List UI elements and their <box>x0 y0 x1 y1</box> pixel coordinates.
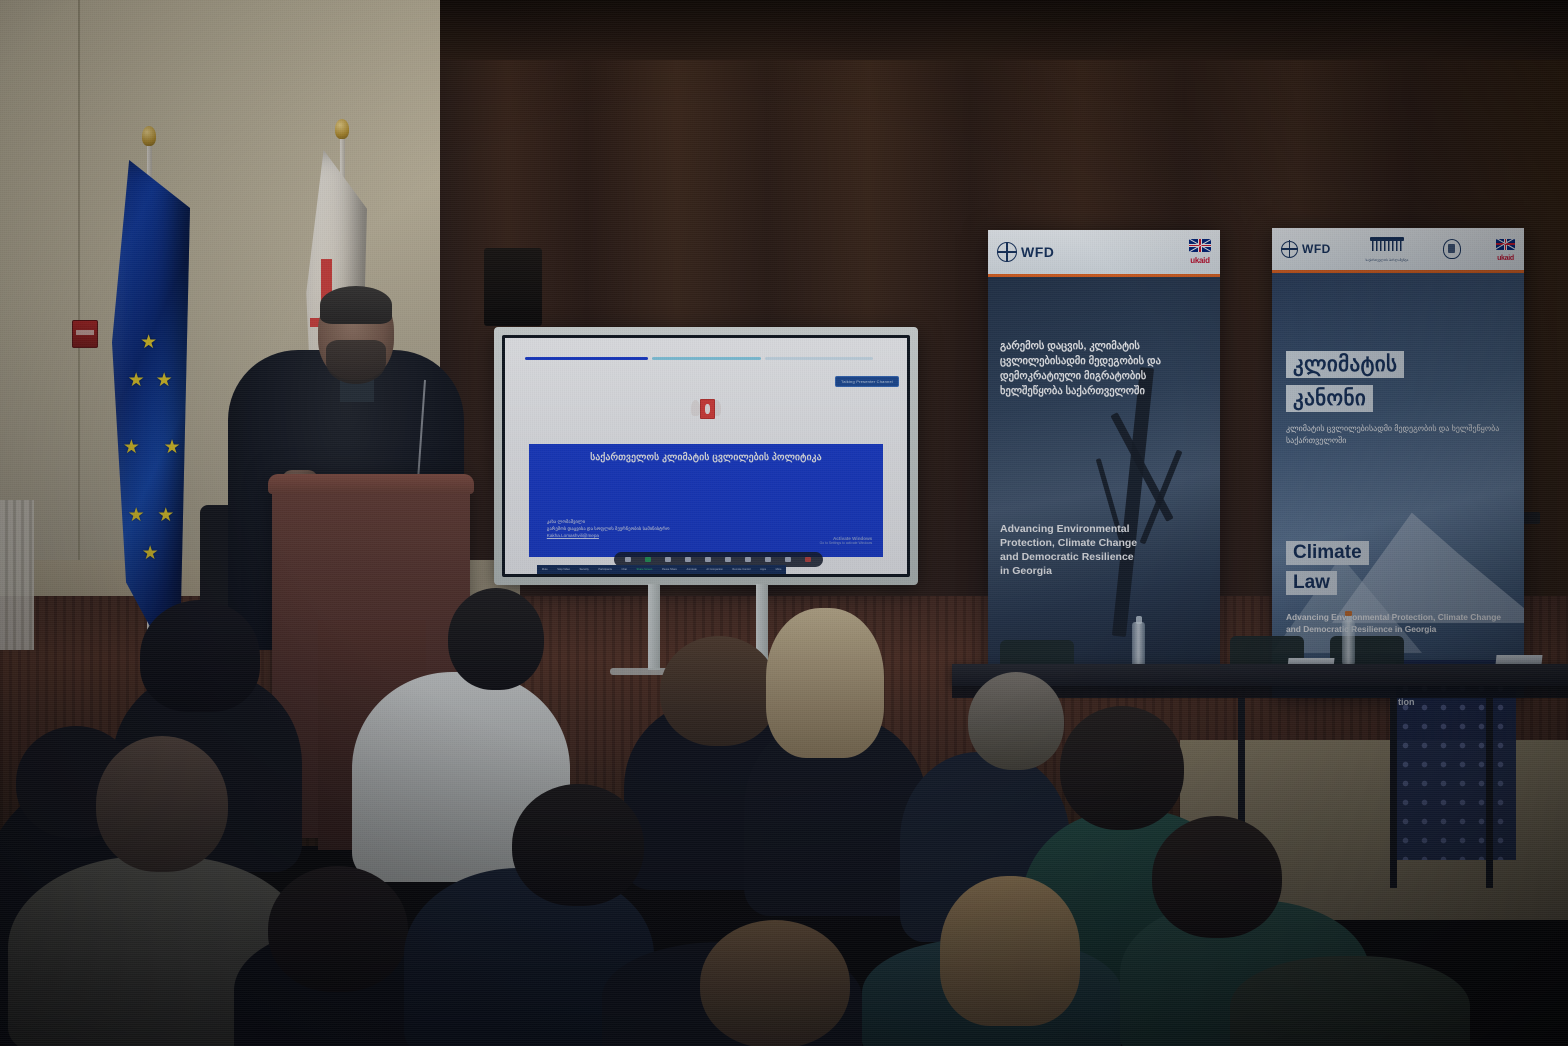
ukaid-wordmark-2: ukaid <box>1496 255 1515 262</box>
parliament-label: საქართველოს პარლამენტი <box>1366 258 1409 262</box>
banner2-title-en-line1: Climate <box>1286 541 1369 565</box>
banner-photo-dead-tree <box>988 277 1220 680</box>
toolbar-item-participants[interactable]: Participants <box>598 568 612 571</box>
banner2-subtitle-ka: კლიმატის ცვლილებისადმი მედეგობის და ხელშ… <box>1286 423 1510 446</box>
georgia-flag-finial-icon <box>335 119 349 139</box>
banner-headline-ka: გარემოს დაცვის, კლიმატის ცვლილებისადმი მ… <box>1000 339 1206 399</box>
headline-en-line-1: Advancing Environmental <box>1000 523 1206 537</box>
toolbar-item-share-screen[interactable]: Share Screen <box>637 568 653 571</box>
toolbar-item-remote-control[interactable]: Remote Control <box>732 568 750 571</box>
settings-icon[interactable] <box>765 557 771 562</box>
presenter-hair <box>320 286 392 324</box>
water-bottle[interactable] <box>1132 622 1145 668</box>
progress-segment-2 <box>652 357 761 360</box>
save-icon[interactable] <box>745 557 751 562</box>
conference-hall-photo: ★ ★ ★ ★ ★ ★ ★ ★ Talking Presenter Channe… <box>0 0 1568 1046</box>
banner2-title-ka-line1: კლიმატის <box>1286 351 1404 378</box>
radiator <box>0 500 34 650</box>
curtain-valance <box>440 0 1568 60</box>
toolbar-item-annotate[interactable]: Annotate <box>686 568 696 571</box>
banner2-logo-strip: WFD საქართველოს პარლამენტი ukaid <box>1272 228 1524 270</box>
banner-body: გარემოს დაცვის, კლიმატის ცვლილებისადმი მ… <box>988 277 1220 680</box>
banner2-title-en-line2: Law <box>1286 571 1337 595</box>
presenter-role: გარემოს დაცვისა და სოფლის მეურნეობის სამ… <box>547 525 670 532</box>
fire-alarm-icon <box>72 320 98 348</box>
toolbar-item-pause-share[interactable]: Pause Share <box>662 568 677 571</box>
close-icon[interactable] <box>785 557 791 562</box>
wfd-globe-icon <box>997 242 1017 262</box>
wall-seam <box>78 0 80 560</box>
toolbar-item-mute[interactable]: Mute <box>542 568 548 571</box>
slide-presenter-block: კახა ლომაშვილი გარემოს დაცვისა და სოფლის… <box>547 518 670 539</box>
slide-title-text: საქართველოს კლიმატის ცვლილების პოლიტიკა <box>529 452 883 463</box>
banner-logo-strip: WFD ukaid <box>988 230 1220 274</box>
progress-segment-1 <box>525 357 648 360</box>
presentation-display[interactable]: Talking Presenter Channel საქართველოს კლ… <box>494 327 918 585</box>
banner-headline-en: Advancing Environmental Protection, Clim… <box>1000 523 1206 578</box>
toolbar-item-chat[interactable]: Chat <box>621 568 626 571</box>
display-screen[interactable]: Talking Presenter Channel საქართველოს კლ… <box>505 338 907 574</box>
slide-title-band: საქართველოს კლიმატის ცვლილების პოლიტიკა … <box>529 444 883 557</box>
ukaid-logo: ukaid <box>1189 239 1211 265</box>
windows-activation-watermark: Activate Windows Go to Settings to activ… <box>820 536 873 545</box>
ukaid-wordmark: ukaid <box>1189 257 1211 265</box>
headline-en-line-2: Protection, Climate Change <box>1000 537 1206 551</box>
zoom-meeting-toolbar[interactable]: Mute Stop Video Security Participants Ch… <box>537 565 786 574</box>
break-icon[interactable] <box>725 557 731 562</box>
union-jack-icon <box>1189 239 1211 252</box>
record-icon[interactable] <box>805 557 811 562</box>
wfd-wordmark-2: WFD <box>1302 242 1331 256</box>
progress-segment-3 <box>765 357 874 360</box>
redo-icon[interactable] <box>685 557 691 562</box>
podium-top-surface <box>268 474 474 494</box>
eu-flag-finial-icon <box>142 126 156 146</box>
table-leg <box>1390 698 1397 888</box>
wfd-logo: WFD <box>997 242 1054 262</box>
wfd-wordmark: WFD <box>1021 244 1054 260</box>
presenter-email[interactable]: Kakha.Lomashvili@mepa <box>547 532 670 539</box>
presenter-name: კახა ლომაშვილი <box>547 518 670 525</box>
toolbar-item-security[interactable]: Security <box>579 568 588 571</box>
banner2-subtitle-en: Advancing Environmental Protection, Clim… <box>1286 611 1506 635</box>
wfd-ukaid-rollup-banner: WFD ukaid გარემოს დაცვის, კლიმატის ცვლილ… <box>988 230 1220 680</box>
display-bezel: Talking Presenter Channel საქართველოს კლ… <box>502 335 910 577</box>
banner2-body: კლიმატის კანონი კლიმატის ცვლილებისადმი მ… <box>1272 273 1524 698</box>
banner2-title-ka-line2: კანონი <box>1286 385 1373 412</box>
presenter-beard <box>326 340 386 384</box>
new-share-icon[interactable] <box>645 557 651 562</box>
wfd-globe-icon <box>1281 241 1298 258</box>
water-bottle[interactable] <box>1342 620 1355 666</box>
clipboard-icon[interactable] <box>625 557 631 562</box>
headline-en-line-4: in Georgia <box>1000 565 1206 579</box>
slide-progress-bar <box>525 357 887 361</box>
watermark-line-2: Go to Settings to activate Windows <box>820 541 873 545</box>
pa-speaker-cabinet <box>484 248 542 326</box>
toolbar-item-stop-video[interactable]: Stop Video <box>557 568 570 571</box>
toolbar-item-apps[interactable]: Apps <box>760 568 766 571</box>
parliament-icon <box>1370 237 1404 253</box>
georgia-crest-icon <box>1443 239 1461 259</box>
georgia-coat-of-arms-icon <box>691 395 721 433</box>
climate-law-rollup-banner: WFD საქართველოს პარლამენტი ukaid <box>1272 228 1524 698</box>
display-stand-left <box>648 584 660 670</box>
undo-icon[interactable] <box>665 557 671 562</box>
headline-en-line-3: and Democratic Resilience <box>1000 551 1206 565</box>
parliament-logo: საქართველოს პარლამენტი <box>1366 237 1409 262</box>
union-jack-icon <box>1496 239 1515 250</box>
toolbar-item-ai-companion[interactable]: AI Companion <box>706 568 722 571</box>
presenter-channel-badge[interactable]: Talking Presenter Channel <box>835 376 899 387</box>
wfd-logo-2: WFD <box>1281 241 1331 258</box>
spotlight-icon[interactable] <box>705 557 711 562</box>
table-leg <box>1486 698 1493 888</box>
ukaid-logo-2: ukaid <box>1496 237 1515 262</box>
toolbar-item-more[interactable]: More <box>776 568 782 571</box>
backdrop-label: tion <box>1398 697 1415 707</box>
